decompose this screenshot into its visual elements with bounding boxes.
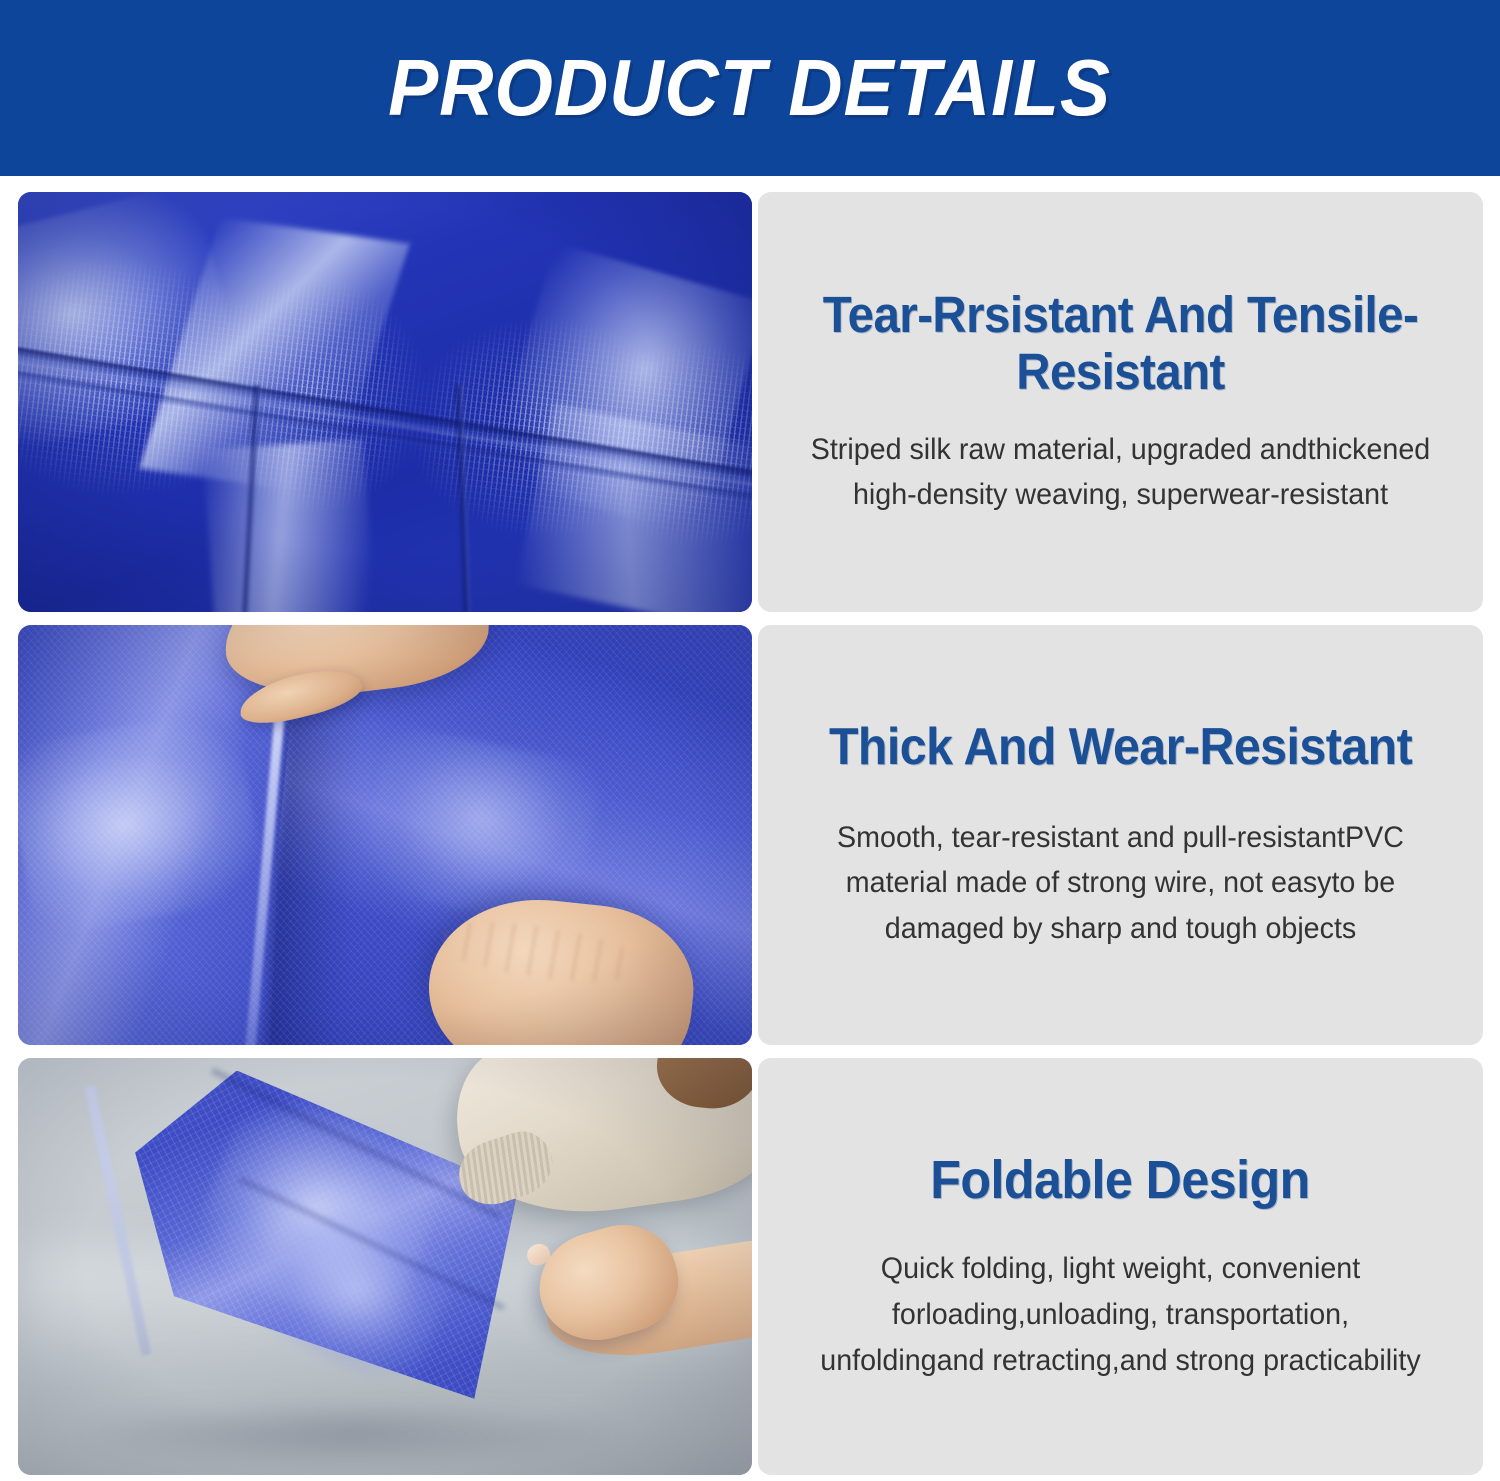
- feature-row-foldable-design: Foldable Design Quick folding, light wei…: [18, 1058, 1483, 1475]
- feature-body: Striped silk raw material, upgraded andt…: [807, 427, 1434, 518]
- feature-list: Tear-Rrsistant And Tensile-Resistant Str…: [0, 176, 1500, 1481]
- feature-copy-panel: Foldable Design Quick folding, light wei…: [758, 1058, 1483, 1475]
- feature-copy-panel: Tear-Rrsistant And Tensile-Resistant Str…: [758, 192, 1483, 612]
- feature-copy-panel: Thick And Wear-Resistant Smooth, tear-re…: [758, 625, 1483, 1045]
- photo-vignette: [18, 625, 752, 1045]
- person-holding-folded-blue-tarp-image: [18, 1058, 752, 1475]
- header-banner: PRODUCT DETAILS: [0, 0, 1500, 176]
- feature-body: Smooth, tear-resistant and pull-resistan…: [807, 815, 1434, 952]
- photo-vignette: [18, 1058, 752, 1475]
- blue-pvc-tarpaulin-texture-closeup-image: [18, 192, 752, 612]
- product-details-infographic: PRODUCT DETAILS Tear-Rrsistant And Tensi: [0, 0, 1500, 1481]
- feature-row-tear-resistant: Tear-Rrsistant And Tensile-Resistant Str…: [18, 192, 1483, 612]
- feature-title: Foldable Design: [931, 1150, 1310, 1210]
- feature-row-thick-wear-resistant: Thick And Wear-Resistant Smooth, tear-re…: [18, 625, 1483, 1045]
- hands-pulling-blue-tarp-image: [18, 625, 752, 1045]
- feature-body: Quick folding, light weight, convenient …: [807, 1246, 1434, 1383]
- photo-vignette: [18, 192, 752, 612]
- feature-title: Thick And Wear-Resistant: [829, 718, 1412, 776]
- page-title: PRODUCT DETAILS: [389, 42, 1112, 134]
- feature-title: Tear-Rrsistant And Tensile-Resistant: [815, 286, 1426, 400]
